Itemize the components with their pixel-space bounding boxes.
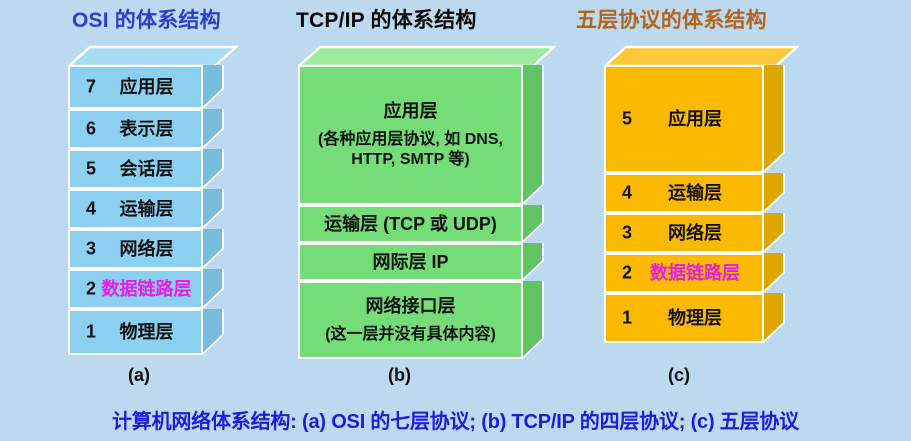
column-title-osi: OSI 的体系结构: [72, 4, 221, 34]
layer-label: 网际层 IP: [366, 251, 454, 274]
layer-front-face: 3网络层: [604, 213, 764, 253]
layer-front-face: 3网络层: [68, 229, 203, 269]
layer-front-face: 7应用层: [68, 65, 203, 109]
layer-label: 数据链路层: [96, 278, 198, 301]
stack-top-face-osi: [68, 45, 238, 67]
layer-side-divider: [763, 188, 789, 213]
layer-row: 4运输层: [68, 189, 203, 229]
layer-side-divider: [522, 334, 548, 359]
layer-number: 1: [86, 322, 96, 343]
layer-number: 5: [86, 159, 96, 180]
layer-number: 3: [622, 223, 632, 244]
layer-label-text: 运输层: [120, 199, 174, 219]
stack-top-face-tcpip: [298, 45, 556, 67]
layer-number: 2: [622, 263, 632, 284]
layer-label-text: 应用层: [120, 77, 174, 97]
layer-side-divider: [202, 284, 228, 309]
layer-sublabel-text: (各种应用层协议, 如 DNS, HTTP, SMTP 等): [306, 130, 515, 170]
layer-label: 表示层: [114, 118, 180, 141]
layer-side-face: [764, 173, 785, 213]
layer-label: 运输层: [114, 198, 180, 221]
layer-label-text: 会话层: [120, 159, 174, 179]
layer-row: 1物理层: [604, 293, 764, 343]
layer-row: 5应用层: [604, 65, 764, 173]
sub-caption-c: (c): [668, 365, 690, 386]
layer-row: 7应用层: [68, 65, 203, 109]
layer-label-text: 网络层: [120, 239, 174, 259]
layer-label: 网络层: [662, 222, 728, 245]
layer-number: 5: [622, 109, 632, 130]
layer-label: 网络层: [114, 238, 180, 261]
layer-side-divider: [522, 218, 548, 243]
layer-row: 应用层(各种应用层协议, 如 DNS, HTTP, SMTP 等): [298, 65, 523, 205]
layer-side-divider: [202, 84, 228, 109]
layer-row: 5会话层: [68, 149, 203, 189]
layer-number: 4: [86, 199, 96, 220]
layer-front-face: 5会话层: [68, 149, 203, 189]
layer-row: 2数据链路层: [604, 253, 764, 293]
layer-side-divider: [763, 318, 789, 343]
layer-label: 应用层: [662, 108, 728, 131]
layer-label: 应用层(各种应用层协议, 如 DNS, HTTP, SMTP 等): [300, 100, 521, 171]
column-title-five-layer: 五层协议的体系结构: [576, 4, 767, 34]
layer-label-text: 应用层: [384, 101, 438, 121]
layer-front-face: 2数据链路层: [604, 253, 764, 293]
layer-row: 网际层 IP: [298, 243, 523, 281]
layer-label-text: 运输层: [668, 183, 722, 203]
layer-label-text: 物理层: [668, 308, 722, 328]
layer-front-face: 应用层(各种应用层协议, 如 DNS, HTTP, SMTP 等): [298, 65, 523, 205]
stack-top-face-five-layer: [604, 45, 799, 67]
layer-number: 4: [622, 183, 632, 204]
layer-label-text: 运输层 (TCP 或 UDP): [324, 214, 497, 234]
figure-caption: 计算机网络体系结构: (a) OSI 的七层协议; (b) TCP/IP 的四层…: [0, 405, 911, 434]
layer-row: 3网络层: [68, 229, 203, 269]
layer-sublabel-text: (这一层并没有具体内容): [325, 325, 496, 345]
sub-caption-a: (a): [128, 365, 150, 386]
layer-row: 3网络层: [604, 213, 764, 253]
layer-label-text: 表示层: [120, 119, 174, 139]
layer-side-face: [523, 65, 544, 205]
column-title-tcpip: TCP/IP 的体系结构: [296, 4, 477, 34]
layer-label: 物理层: [114, 321, 180, 344]
layer-side-divider: [202, 330, 228, 355]
layer-label-text: 网络接口层: [365, 296, 455, 316]
layer-row: 4运输层: [604, 173, 764, 213]
layer-front-face: 运输层 (TCP 或 UDP): [298, 205, 523, 243]
layer-side-divider: [522, 256, 548, 281]
layer-row: 1物理层: [68, 309, 203, 355]
layer-side-face: [203, 269, 224, 309]
layer-number: 2: [86, 279, 96, 300]
layer-front-face: 1物理层: [68, 309, 203, 355]
layer-label-text: 应用层: [668, 109, 722, 129]
layer-label: 会话层: [114, 158, 180, 181]
layer-side-divider: [202, 124, 228, 149]
layer-front-face: 4运输层: [68, 189, 203, 229]
layer-side-divider: [202, 204, 228, 229]
layer-front-face: 5应用层: [604, 65, 764, 173]
layer-side-face: [203, 309, 224, 355]
stack-body-five-layer: 5应用层4运输层3网络层2数据链路层1物理层: [604, 65, 764, 343]
layer-front-face: 4运输层: [604, 173, 764, 213]
layer-side-face: [764, 253, 785, 293]
layer-side-divider: [763, 148, 789, 173]
layer-label: 运输层: [662, 182, 728, 205]
layer-number: 1: [622, 308, 632, 329]
layer-side-divider: [202, 164, 228, 189]
layer-label: 物理层: [662, 307, 728, 330]
layer-side-divider: [522, 180, 548, 205]
layer-label: 应用层: [114, 76, 180, 99]
layer-side-face: [203, 149, 224, 189]
stack-body-osi: 7应用层6表示层5会话层4运输层3网络层2数据链路层1物理层: [68, 65, 203, 355]
layer-row: 2数据链路层: [68, 269, 203, 309]
layer-label-text: 网络层: [668, 223, 722, 243]
diagram-canvas: OSI 的体系结构 TCP/IP 的体系结构 五层协议的体系结构 7应用层6表示…: [0, 0, 911, 441]
layer-side-divider: [763, 268, 789, 293]
layer-number: 3: [86, 239, 96, 260]
layer-front-face: 网际层 IP: [298, 243, 523, 281]
layer-number: 7: [86, 77, 96, 98]
layer-label: 网络接口层(这一层并没有具体内容): [319, 295, 502, 346]
layer-front-face: 6表示层: [68, 109, 203, 149]
layer-side-face: [203, 109, 224, 149]
layer-side-face: [764, 213, 785, 253]
layer-side-face: [764, 293, 785, 343]
layer-side-face: [203, 65, 224, 109]
sub-caption-b: (b): [388, 365, 411, 386]
layer-front-face: 1物理层: [604, 293, 764, 343]
layer-side-face: [764, 65, 785, 173]
layer-side-face: [203, 189, 224, 229]
layer-row: 6表示层: [68, 109, 203, 149]
layer-label: 运输层 (TCP 或 UDP): [318, 213, 503, 236]
layer-number: 6: [86, 119, 96, 140]
layer-side-face: [203, 229, 224, 269]
layer-label-text: 物理层: [120, 322, 174, 342]
layer-side-face: [523, 205, 544, 243]
stack-body-tcpip: 应用层(各种应用层协议, 如 DNS, HTTP, SMTP 等)运输层 (TC…: [298, 65, 523, 359]
layer-side-face: [523, 243, 544, 281]
layer-side-face: [523, 281, 544, 359]
layer-row: 运输层 (TCP 或 UDP): [298, 205, 523, 243]
layer-row: 网络接口层(这一层并没有具体内容): [298, 281, 523, 359]
layer-side-divider: [202, 244, 228, 269]
layer-label-text: 网际层 IP: [372, 252, 448, 272]
layer-front-face: 网络接口层(这一层并没有具体内容): [298, 281, 523, 359]
layer-label-text: 数据链路层: [650, 263, 740, 283]
layer-label: 数据链路层: [644, 262, 746, 285]
layer-side-divider: [763, 228, 789, 253]
layer-front-face: 2数据链路层: [68, 269, 203, 309]
layer-label-text: 数据链路层: [102, 279, 192, 299]
